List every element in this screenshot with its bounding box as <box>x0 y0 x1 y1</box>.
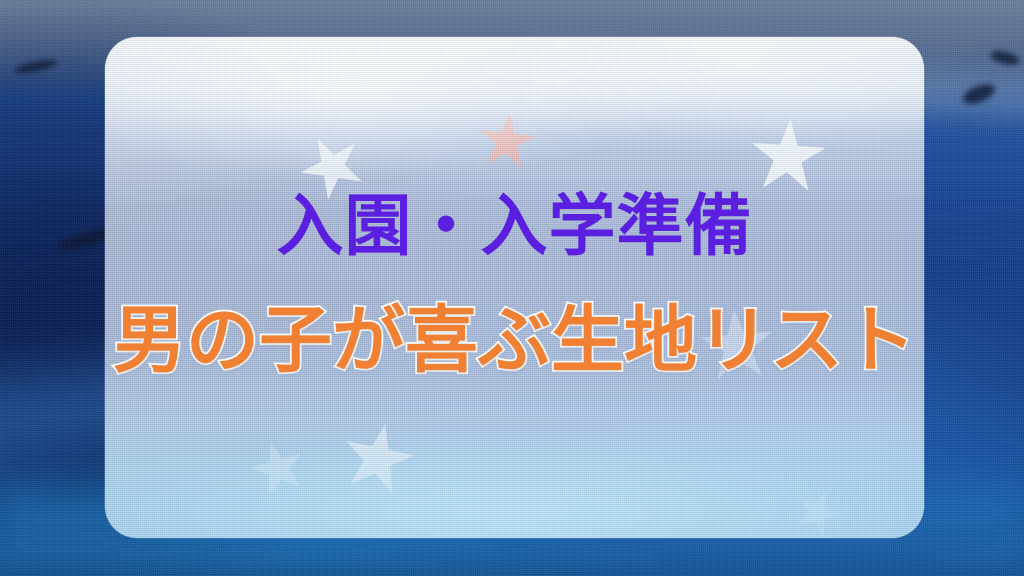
star-faint-lower-left <box>245 435 312 502</box>
panel-light-wash <box>105 37 924 538</box>
star-white-lower-left <box>336 416 419 499</box>
star-white-upper-right <box>749 117 828 196</box>
star-faint-bottom-mid <box>788 482 848 538</box>
panel-weave-texture <box>105 37 924 538</box>
star-white-upper-left <box>290 124 374 208</box>
thumbnail-canvas: 入園・入学準備 男の子が喜ぶ生地リスト <box>0 0 1024 576</box>
star-pink-upper-mid <box>476 110 538 172</box>
overlay-panel <box>105 37 924 538</box>
star-faint-mid-right <box>698 306 776 384</box>
